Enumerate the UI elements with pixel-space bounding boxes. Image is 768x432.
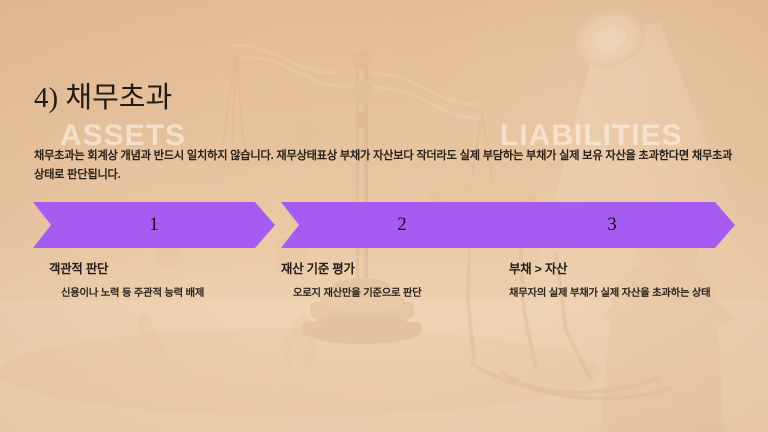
process-step-3-description: 채무자의 실제 부채가 실제 자산을 초과하는 상태 — [509, 286, 741, 303]
process-chevron-1-number: 1 — [149, 215, 159, 234]
process-chevron-2-number: 2 — [397, 215, 407, 234]
slide-canvas: ASSETS LIABILITIES 4) 채무초과 채무초과는 회계상 개념과… — [0, 0, 768, 432]
process-chevron-1[interactable]: 1 — [33, 202, 275, 248]
process-step-1: 객관적 판단 신용이나 노력 등 주관적 능력 배제 — [49, 259, 264, 303]
process-step-1-heading: 객관적 판단 — [49, 259, 264, 277]
process-step-2: 재산 기준 평가 오로지 재산만을 기준으로 판단 — [281, 259, 486, 303]
slide-title: 4) 채무초과 — [34, 82, 172, 115]
process-chevron-band: 1 2 3 — [33, 202, 735, 248]
slide-body-text: 채무초과는 회계상 개념과 반드시 일치하지 않습니다. 재무상태표상 부채가 … — [34, 147, 740, 186]
process-step-2-heading: 재산 기준 평가 — [281, 259, 486, 277]
process-step-3: 부채 > 자산 채무자의 실제 부채가 실제 자산을 초과하는 상태 — [509, 259, 741, 303]
process-chevron-3[interactable]: 3 — [489, 202, 735, 248]
process-chevron-2[interactable]: 2 — [281, 202, 523, 248]
process-step-1-description: 신용이나 노력 등 주관적 능력 배제 — [61, 286, 264, 303]
process-step-2-description: 오로지 재산만을 기준으로 판단 — [293, 286, 486, 303]
process-chevron-3-number: 3 — [607, 215, 617, 234]
process-step-3-heading: 부채 > 자산 — [509, 259, 741, 277]
